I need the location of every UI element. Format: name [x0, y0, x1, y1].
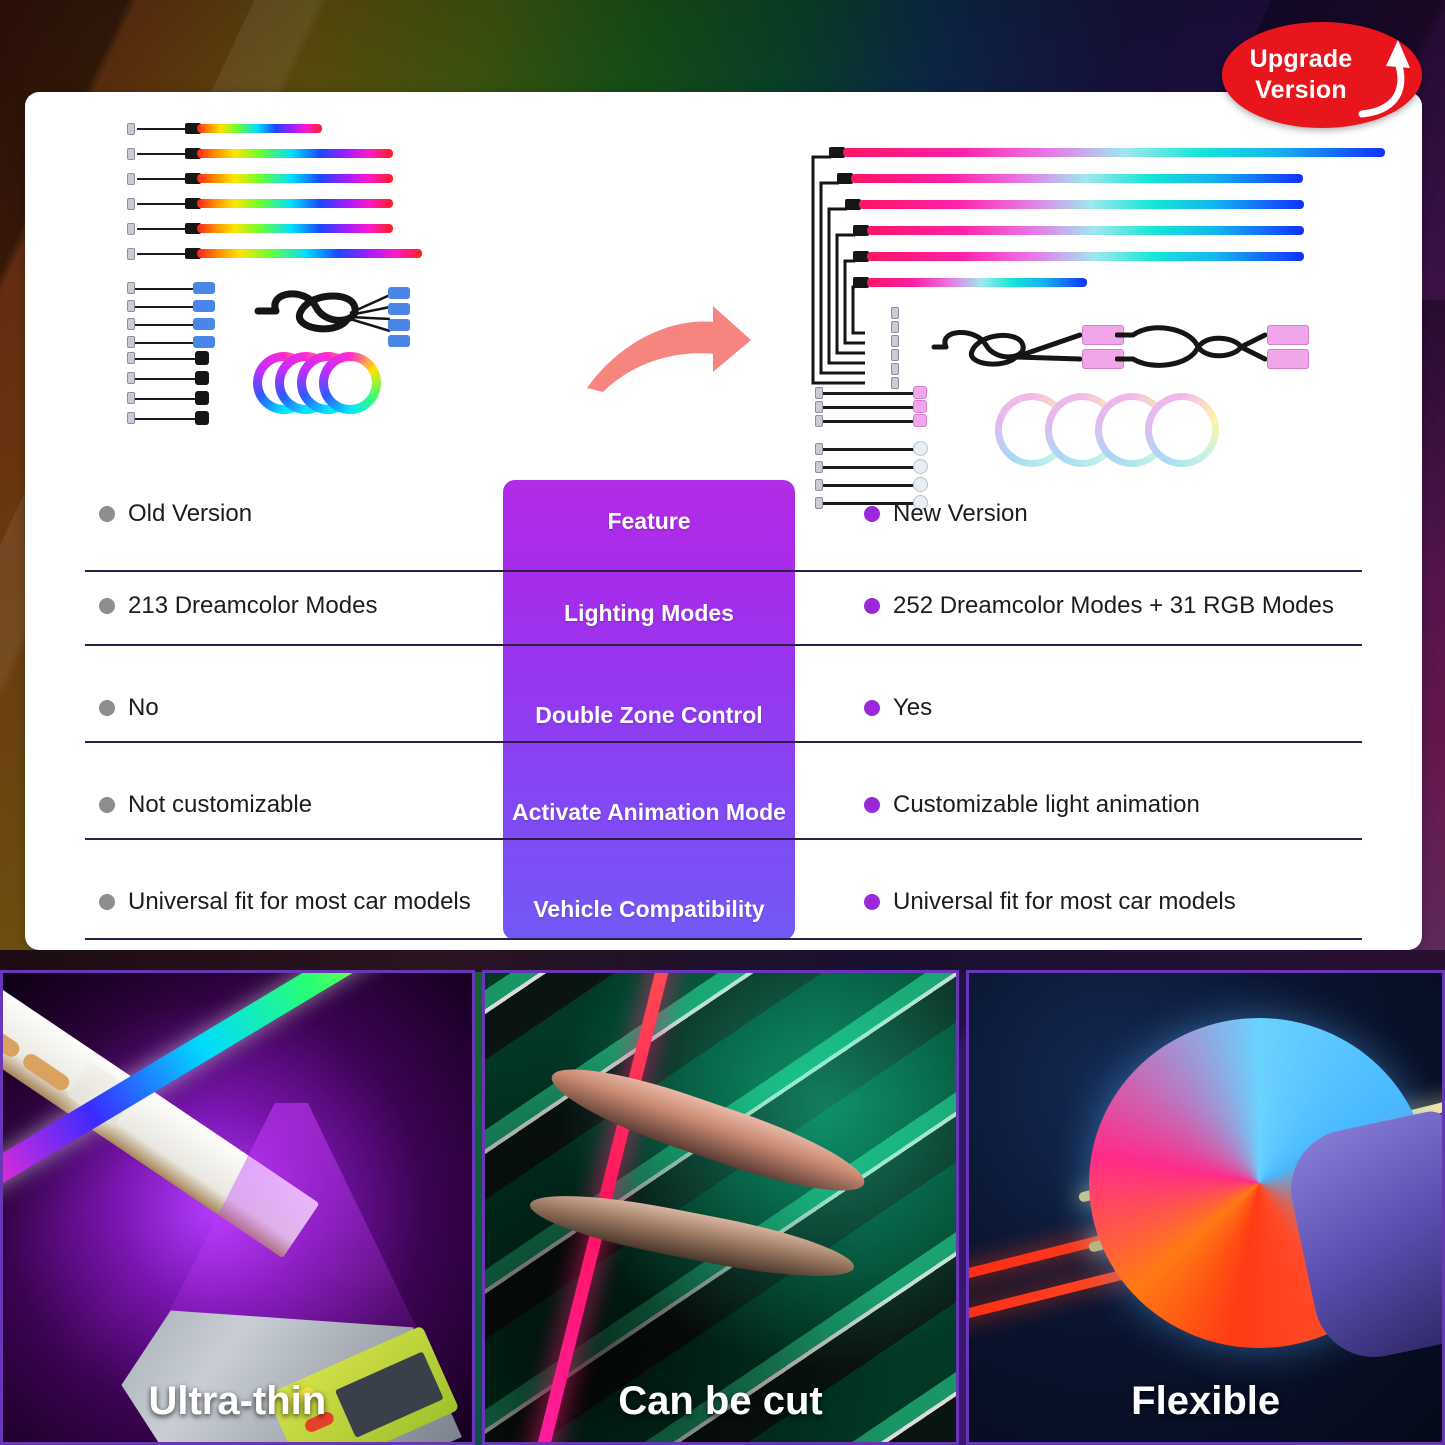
old-strip-row [125, 247, 505, 261]
feature-panel-flexible: Flexible [966, 970, 1445, 1445]
curved-up-arrow-icon [1342, 32, 1412, 118]
feature-panel-ultra-thin: Ultra-thin [0, 970, 475, 1445]
old-strip-row [125, 147, 505, 161]
row-feature-label: Activate Animation Mode [503, 799, 795, 826]
curved-right-arrow-icon [581, 300, 756, 395]
row-feature-label: Vehicle Compatibility [503, 896, 795, 923]
header-old-cell: Old Version [99, 500, 252, 528]
comparison-table: Old Version Feature New Version 213 Drea… [25, 472, 1422, 950]
row-old-cell: No [99, 694, 159, 722]
feature-panel-label: Ultra-thin [3, 1379, 472, 1424]
header-new-cell: New Version [864, 500, 1028, 528]
row-new-cell: Yes [864, 694, 932, 722]
old-strip-row [125, 172, 505, 186]
old-bullet-icon [99, 506, 115, 522]
header-feature-label: Feature [503, 508, 795, 535]
row-feature-label: Double Zone Control [503, 702, 795, 729]
row-new-label: 252 Dreamcolor Modes + 31 RGB Modes [893, 592, 1334, 620]
new-cable-bundle [930, 325, 1090, 371]
row-new-cell: 252 Dreamcolor Modes + 31 RGB Modes [864, 592, 1334, 620]
table-row: Not customizable Activate Animation Mode… [85, 743, 1362, 840]
scissors-cutting-led-strip-photo [485, 973, 957, 1442]
old-strip-row [125, 222, 505, 236]
row-new-label: Customizable light animation [893, 791, 1200, 819]
new-bullet-icon [864, 700, 880, 716]
table-row: 213 Dreamcolor Modes Lighting Modes 252 … [85, 534, 1362, 646]
new-bullet-icon [864, 797, 880, 813]
header-old-label: Old Version [128, 500, 252, 528]
old-version-product-group [125, 102, 505, 432]
upgrade-version-badge: Upgrade Version [1222, 22, 1422, 128]
feature-panel-label: Can be cut [485, 1379, 957, 1424]
table-row: No Double Zone Control Yes [85, 646, 1362, 743]
panel-gap-strip [0, 950, 1445, 972]
row-old-cell: 213 Dreamcolor Modes [99, 592, 377, 620]
row-feature-label: Lighting Modes [503, 600, 795, 627]
new-version-product-group [805, 147, 1395, 467]
row-old-cell: Universal fit for most car models [99, 888, 471, 916]
harness-wire-bracket [805, 151, 885, 391]
led-strip-pcb-with-caliper-photo [3, 973, 472, 1442]
row-new-cell: Universal fit for most car models [864, 888, 1236, 916]
row-old-label: Not customizable [128, 791, 312, 819]
comparison-card: Old Version Feature New Version 213 Drea… [25, 92, 1422, 950]
row-old-cell: Not customizable [99, 791, 312, 819]
hand-bending-led-strip-circle-photo [969, 973, 1442, 1442]
upgrade-transition-arrow [581, 300, 756, 400]
new-bullet-icon [864, 598, 880, 614]
row-old-label: Universal fit for most car models [128, 888, 471, 916]
header-new-label: New Version [893, 500, 1028, 528]
row-separator [85, 938, 1362, 940]
feature-panel-label: Flexible [969, 1379, 1442, 1424]
row-old-label: 213 Dreamcolor Modes [128, 592, 377, 620]
new-bullet-icon [864, 894, 880, 910]
table-row: Universal fit for most car models Vehicl… [85, 840, 1362, 940]
row-new-label: Universal fit for most car models [893, 888, 1236, 916]
old-bullet-icon [99, 700, 115, 716]
old-strip-row [125, 197, 505, 211]
old-bullet-icon [99, 797, 115, 813]
old-strip-row [125, 122, 505, 136]
old-bullet-icon [99, 894, 115, 910]
feature-panel-can-be-cut: Can be cut [482, 970, 960, 1445]
row-new-label: Yes [893, 694, 932, 722]
row-new-cell: Customizable light animation [864, 791, 1200, 819]
old-bullet-icon [99, 598, 115, 614]
feature-panel-row: Ultra-thin Can be cut Flexible [0, 970, 1445, 1445]
new-bullet-icon [864, 506, 880, 522]
new-cable-bundle [1115, 325, 1275, 371]
old-wire-bundle [250, 277, 400, 347]
row-old-label: No [128, 694, 159, 722]
